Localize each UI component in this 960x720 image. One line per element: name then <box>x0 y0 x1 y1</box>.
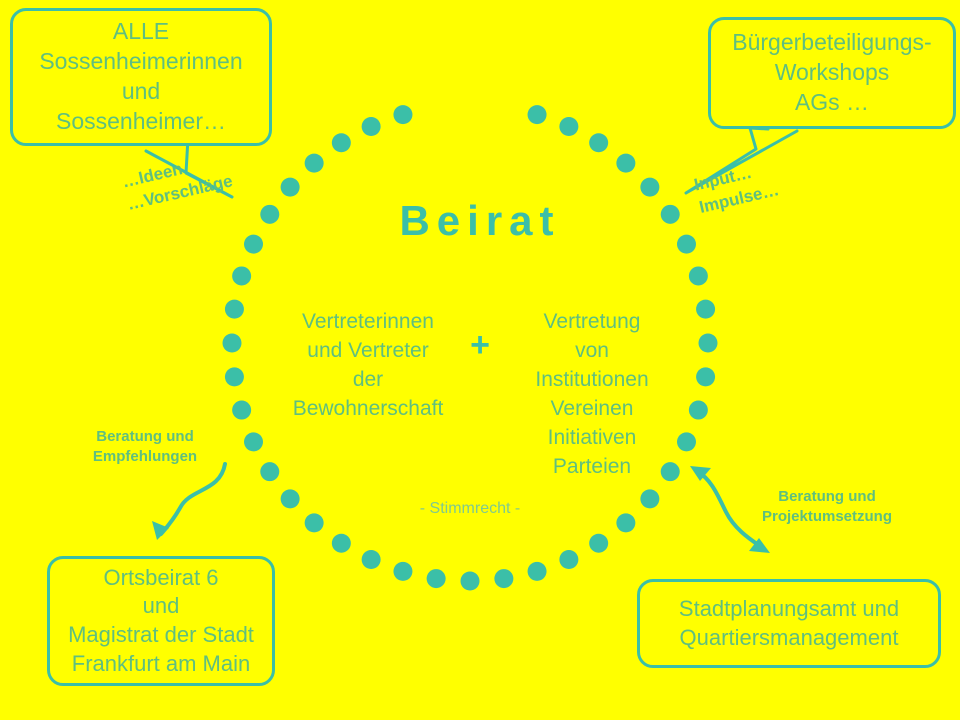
ring-dot <box>461 572 480 591</box>
ring-dot <box>559 117 578 136</box>
callout-text-stadtplanungsamt: Stadtplanungsamt und Quartiersmanagement <box>650 595 928 652</box>
callout-box-alle-sossenheimer[interactable]: ALLE Sossenheimerinnen und Sossenheimer… <box>10 8 272 146</box>
ring-dot <box>332 534 351 553</box>
callout-box-ortsbeirat[interactable]: Ortsbeirat 6 und Magistrat der Stadt Fra… <box>47 556 275 686</box>
ring-dot <box>332 133 351 152</box>
ring-dot <box>393 105 412 124</box>
ring-dot <box>640 178 659 197</box>
center-columns-group: Vertreterinnen und Vertreter der Bewohne… <box>255 308 705 482</box>
callout-text-buergerbeteiligung: Bürgerbeteiligungs- Workshops AGs … <box>721 28 943 118</box>
ring-dot <box>393 562 412 581</box>
ring-dot <box>223 334 242 353</box>
callout-text-ortsbeirat: Ortsbeirat 6 und Magistrat der Stadt Fra… <box>60 564 262 678</box>
ring-dot <box>305 154 324 173</box>
ring-dot <box>494 569 513 588</box>
ring-dot <box>616 154 635 173</box>
ring-dot <box>528 562 547 581</box>
annotation-beratung-empfehlungen: Beratung und Empfehlungen <box>78 427 212 468</box>
ring-dot <box>225 300 244 319</box>
callout-box-stadtplanungsamt[interactable]: Stadtplanungsamt und Quartiersmanagement <box>637 579 941 668</box>
ring-dot <box>232 266 251 285</box>
ring-dot <box>225 367 244 386</box>
ring-dot <box>427 569 446 588</box>
ring-dot <box>362 117 381 136</box>
annotation-beratung-projektumsetzung: Beratung und Projektumsetzung <box>745 487 909 528</box>
ring-dot <box>589 133 608 152</box>
callout-text-alle-sossenheimer: ALLE Sossenheimerinnen und Sossenheimer… <box>23 17 259 137</box>
ring-dot <box>232 401 251 420</box>
ring-dot <box>589 534 608 553</box>
center-column-bewohnerschaft: Vertreterinnen und Vertreter der Bewohne… <box>279 308 457 424</box>
diagram-canvas: ALLE Sossenheimerinnen und Sossenheimer…… <box>0 0 960 720</box>
ring-dot <box>281 178 300 197</box>
ring-dot <box>689 266 708 285</box>
ring-dot <box>528 105 547 124</box>
center-column-institutionen: Vertretung von Institutionen Vereinen In… <box>503 308 681 482</box>
callout-box-buergerbeteiligung[interactable]: Bürgerbeteiligungs- Workshops AGs … <box>708 17 956 129</box>
ring-dot <box>362 550 381 569</box>
ring-dot <box>559 550 578 569</box>
plus-icon: + <box>457 308 503 362</box>
